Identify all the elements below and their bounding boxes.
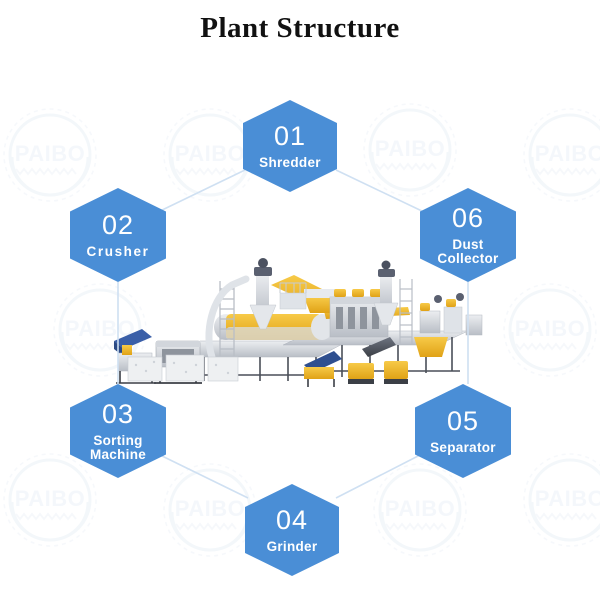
watermark-tile <box>510 95 600 215</box>
page-title: Plant Structure <box>0 12 600 45</box>
step-number-06: 06 <box>452 204 484 232</box>
step-number-01: 01 <box>274 122 306 150</box>
plant-structure-diagram: PAIBO <box>0 0 600 600</box>
step-hexagon-05[interactable]: 05 Separator <box>415 384 511 478</box>
watermark-tile <box>0 95 110 215</box>
watermark-tile <box>510 440 600 560</box>
step-hexagon-01[interactable]: 01 Shredder <box>243 100 337 192</box>
step-number-05: 05 <box>447 407 479 435</box>
step-label-04: Grinder <box>267 540 318 554</box>
step-label-01: Shredder <box>259 156 321 170</box>
step-number-02: 02 <box>102 211 134 239</box>
watermark-tile <box>350 90 470 210</box>
connector-01-06 <box>336 170 424 212</box>
connector-03-04 <box>160 455 248 498</box>
step-label-02: Crusher <box>87 245 150 259</box>
step-label-03: Sorting Machine <box>90 434 146 462</box>
step-hexagon-04[interactable]: 04 Grinder <box>245 484 339 576</box>
watermark-tile <box>490 270 600 390</box>
connector-02-01 <box>158 170 245 212</box>
step-label-05: Separator <box>430 441 496 455</box>
step-number-04: 04 <box>276 506 308 534</box>
step-hexagon-03[interactable]: 03 Sorting Machine <box>70 384 166 478</box>
step-number-03: 03 <box>102 400 134 428</box>
connector-04-05 <box>336 455 420 498</box>
step-label-06: Dust Collector <box>437 238 498 266</box>
